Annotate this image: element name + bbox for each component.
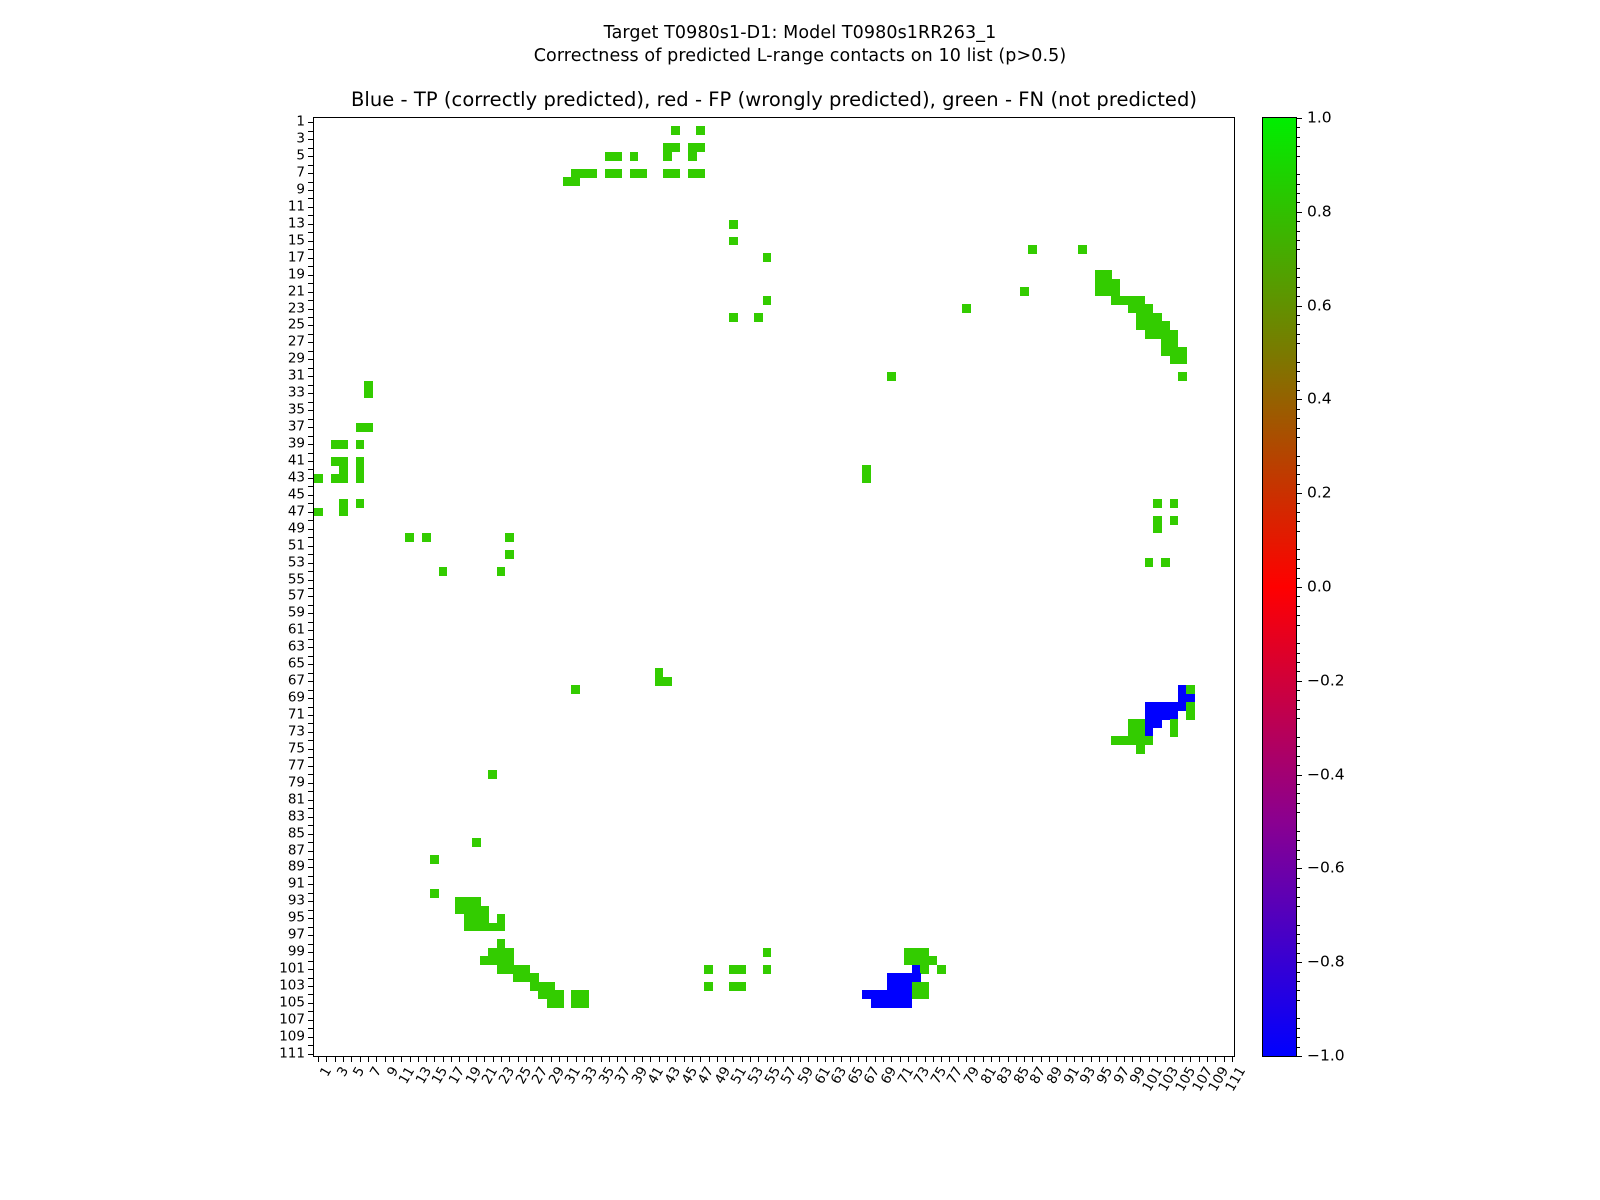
y-tick [308,1037,314,1038]
x-tick [991,1056,992,1062]
x-tick [941,1056,942,1062]
y-tick [308,173,314,174]
colorbar-minor-tick [1296,784,1300,785]
x-tick [459,1056,460,1062]
colorbar-tick-label: 0.8 [1307,204,1332,220]
x-tick-label: 1 [319,1065,335,1079]
y-tick [308,275,314,276]
contact-cell [1170,728,1179,737]
contact-cell [505,550,514,559]
colorbar-minor-tick [1296,137,1300,138]
contact-cell [505,533,514,542]
y-tick [308,952,314,953]
x-tick [709,1056,710,1062]
y-tick-label: 21 [288,285,305,299]
colorbar-minor-tick [1296,953,1300,954]
colorbar-minor-tick [1296,625,1300,626]
y-tick [308,156,314,157]
colorbar-minor-tick [1296,1047,1300,1048]
x-tick [1008,1056,1009,1062]
y-tick [308,630,314,631]
colorbar-minor-tick [1296,362,1300,363]
y-tick [308,817,314,818]
contact-cell [339,440,348,449]
contact-cell [356,440,365,449]
colorbar-minor-tick [1296,934,1300,935]
x-tick [1082,1056,1083,1062]
contact-cell [472,838,481,847]
contact-cell [663,677,672,686]
colorbar-minor-tick [1296,521,1300,522]
colorbar-minor-tick [1296,343,1300,344]
colorbar-minor-tick [1296,878,1300,879]
x-tick [916,1056,917,1062]
x-tick [767,1056,768,1062]
colorbar-minor-tick [1296,240,1300,241]
colorbar-tick-label: 0.0 [1307,579,1332,595]
colorbar-minor-tick [1296,765,1300,766]
x-tick [484,1056,485,1062]
x-tick [518,1056,519,1062]
x-tick [434,1056,435,1062]
y-tick [308,639,314,640]
contact-cell [1153,719,1162,728]
y-tick-label: 91 [288,878,305,892]
colorbar-minor-tick [1296,793,1300,794]
contact-cell [1170,516,1179,525]
colorbar-minor-tick [1296,334,1300,335]
contact-cell [904,999,913,1008]
colorbar-minor-tick [1296,746,1300,747]
y-tick [308,1045,314,1046]
x-tick [659,1056,660,1062]
colorbar-minor-tick [1296,474,1300,475]
contact-cell [1020,287,1029,296]
colorbar-tick [1296,493,1302,494]
y-tick-label: 33 [288,386,305,400]
y-tick-label: 23 [288,302,305,316]
x-tick [1199,1056,1200,1062]
x-tick [974,1056,975,1062]
x-tick [559,1056,560,1062]
y-tick [308,309,314,310]
contact-cell [555,999,564,1008]
colorbar-minor-tick [1296,202,1300,203]
colorbar[interactable]: 1.00.80.60.40.20.0−0.2−0.4−0.6−0.8−1.0 [1262,117,1297,1057]
x-tick [601,1056,602,1062]
colorbar-minor-tick [1296,231,1300,232]
y-tick-label: 93 [288,895,305,909]
colorbar-gradient [1263,118,1296,1056]
y-tick [308,808,314,809]
contact-cell [1145,736,1154,745]
x-tick [501,1056,502,1062]
colorbar-minor-tick [1296,184,1300,185]
y-tick [308,520,314,521]
y-tick [308,766,314,767]
y-tick [308,317,314,318]
y-tick [308,512,314,513]
x-tick [625,1056,626,1062]
contact-cell [754,313,763,322]
x-tick [1074,1056,1075,1062]
y-tick [308,486,314,487]
contact-cell [1153,499,1162,508]
y-tick [308,436,314,437]
y-tick [308,342,314,343]
colorbar-minor-tick [1296,249,1300,250]
colorbar-tick-label: 0.2 [1307,485,1332,501]
colorbar-minor-tick [1296,381,1300,382]
y-tick [308,359,314,360]
x-tick [509,1056,510,1062]
contact-cell [430,855,439,864]
y-tick [308,122,314,123]
contact-cell [1170,499,1179,508]
colorbar-tick-label: −0.6 [1307,861,1345,877]
x-tick [775,1056,776,1062]
y-tick [308,859,314,860]
y-tick [308,232,314,233]
colorbar-minor-tick [1296,221,1300,222]
x-tick [750,1056,751,1062]
x-tick [1107,1056,1108,1062]
contact-cell [1161,558,1170,567]
x-tick [401,1056,402,1062]
contact-cell [920,990,929,999]
y-tick [308,723,314,724]
y-tick [308,800,314,801]
x-tick [949,1056,950,1062]
x-tick [368,1056,369,1062]
x-tick [891,1056,892,1062]
y-tick-label: 79 [288,776,305,790]
x-tick [1099,1056,1100,1062]
x-tick [1140,1056,1141,1062]
y-tick [308,385,314,386]
contact-cell [588,169,597,178]
contact-cell [729,220,738,229]
x-tick [1174,1056,1175,1062]
y-tick [308,707,314,708]
x-tick [783,1056,784,1062]
y-tick [308,215,314,216]
colorbar-minor-tick [1296,512,1300,513]
y-tick-label: 17 [288,251,305,265]
colorbar-minor-tick [1296,418,1300,419]
colorbar-minor-tick [1296,859,1300,860]
contact-cell [663,152,672,161]
x-tick [700,1056,701,1062]
contact-cell [314,474,323,483]
contact-cell [704,982,713,991]
x-tick [684,1056,685,1062]
figure-canvas: Target T0980s1-D1: Model T0980s1RR263_1 … [0,0,1600,1200]
y-tick [308,224,314,225]
contact-cell [339,474,348,483]
y-tick [308,656,314,657]
x-tick [609,1056,610,1062]
x-tick [451,1056,452,1062]
x-tick [958,1056,959,1062]
y-tick-label: 101 [279,962,305,976]
y-tick [308,901,314,902]
y-tick-label: 89 [288,861,305,875]
x-tick [634,1056,635,1062]
colorbar-minor-tick [1296,850,1300,851]
y-tick-label: 109 [279,1030,305,1044]
x-tick [1190,1056,1191,1062]
contact-cell [729,313,738,322]
x-tick [966,1056,967,1062]
colorbar-minor-tick [1296,718,1300,719]
contact-cell [738,965,747,974]
y-tick-label: 19 [288,268,305,282]
colorbar-minor-tick [1296,803,1300,804]
x-tick [476,1056,477,1062]
colorbar-minor-tick [1296,315,1300,316]
y-tick [308,690,314,691]
y-tick-label: 77 [288,759,305,773]
contact-cell [439,567,448,576]
y-tick-label: 3 [296,132,305,146]
y-tick [308,613,314,614]
x-tick [426,1056,427,1062]
x-tick [933,1056,934,1062]
colorbar-tick-label: −0.8 [1307,954,1345,970]
colorbar-tick-label: 1.0 [1307,110,1332,126]
y-tick [308,292,314,293]
y-tick [308,944,314,945]
colorbar-minor-tick [1296,484,1300,485]
colorbar-minor-tick [1296,146,1300,147]
colorbar-minor-tick [1296,456,1300,457]
y-tick [308,529,314,530]
y-tick-label: 57 [288,590,305,604]
x-tick [999,1056,1000,1062]
y-tick-label: 87 [288,844,305,858]
x-tick [1091,1056,1092,1062]
colorbar-minor-tick [1296,709,1300,710]
contact-cell [1178,355,1187,364]
colorbar-tick-label: −0.4 [1307,767,1345,783]
contact-cell [920,965,929,974]
colorbar-tick [1296,118,1302,119]
x-tick [493,1056,494,1062]
x-tick [900,1056,901,1062]
y-tick [308,148,314,149]
colorbar-minor-tick [1296,643,1300,644]
x-tick [1066,1056,1067,1062]
x-tick [534,1056,535,1062]
y-tick [308,402,314,403]
contact-cell [671,143,680,152]
y-tick [308,647,314,648]
y-tick [308,537,314,538]
contact-cell [339,508,348,517]
contact-cell [314,508,323,517]
colorbar-minor-tick [1296,981,1300,982]
x-tick [817,1056,818,1062]
colorbar-tick [1296,1056,1302,1057]
contact-cell [488,770,497,779]
colorbar-minor-tick [1296,174,1300,175]
colorbar-minor-tick [1296,596,1300,597]
y-tick-label: 39 [288,437,305,451]
y-tick [308,918,314,919]
y-tick [308,834,314,835]
x-tick [1232,1056,1233,1062]
x-tick [1124,1056,1125,1062]
x-tick [1016,1056,1017,1062]
x-tick-label: 7 [369,1065,385,1079]
contact-cell [763,965,772,974]
colorbar-minor-tick [1296,812,1300,813]
contact-cell [497,923,506,932]
y-tick [308,893,314,894]
colorbar-tick [1296,962,1302,963]
x-tick [584,1056,585,1062]
y-tick [308,969,314,970]
colorbar-tick [1296,212,1302,213]
x-tick [808,1056,809,1062]
x-tick-label: 3 [335,1065,351,1079]
colorbar-tick-label: −0.2 [1307,673,1345,689]
y-tick-label: 11 [288,200,305,214]
x-tick [542,1056,543,1062]
contact-cell [696,126,705,135]
colorbar-minor-tick [1296,409,1300,410]
contact-cell [571,685,580,694]
y-tick [308,757,314,758]
y-tick-label: 81 [288,793,305,807]
figure-suptitle: Target T0980s1-D1: Model T0980s1RR263_1 … [0,22,1600,68]
x-tick [1041,1056,1042,1062]
y-tick [308,749,314,750]
y-tick-label: 111 [279,1047,305,1061]
y-tick-label: 73 [288,725,305,739]
colorbar-minor-tick [1296,990,1300,991]
y-tick-label: 51 [288,539,305,553]
contact-cell [763,253,772,262]
contact-cell [1078,245,1087,254]
y-tick [308,673,314,674]
colorbar-minor-tick [1296,156,1300,157]
y-tick [308,478,314,479]
y-tick [308,249,314,250]
y-tick [308,994,314,995]
y-tick [308,554,314,555]
y-tick [308,664,314,665]
colorbar-minor-tick [1296,606,1300,607]
x-tick [1207,1056,1208,1062]
y-tick [308,461,314,462]
y-tick [308,978,314,979]
x-tick [551,1056,552,1062]
y-tick-label: 9 [296,183,305,197]
y-tick [308,1020,314,1021]
x-tick [393,1056,394,1062]
x-tick [410,1056,411,1062]
x-tick [733,1056,734,1062]
x-tick [592,1056,593,1062]
contact-cell [571,177,580,186]
y-tick [308,867,314,868]
x-tick [650,1056,651,1062]
colorbar-minor-tick [1296,1000,1300,1001]
y-tick-label: 69 [288,691,305,705]
colorbar-minor-tick [1296,503,1300,504]
y-tick [308,580,314,581]
contact-cell [729,237,738,246]
colorbar-minor-tick [1296,371,1300,372]
contact-cell [738,982,747,991]
contact-cell [356,499,365,508]
y-tick [308,1028,314,1029]
x-tick [326,1056,327,1062]
x-tick [925,1056,926,1062]
colorbar-minor-tick [1296,465,1300,466]
y-tick [308,740,314,741]
x-tick [850,1056,851,1062]
colorbar-minor-tick [1296,531,1300,532]
colorbar-minor-tick [1296,268,1300,269]
y-tick [308,165,314,166]
y-tick [308,198,314,199]
colorbar-tick [1296,681,1302,682]
y-tick [308,596,314,597]
y-tick-label: 103 [279,979,305,993]
x-tick [908,1056,909,1062]
x-tick [825,1056,826,1062]
y-tick [308,266,314,267]
contact-cell [688,152,697,161]
colorbar-minor-tick [1296,578,1300,579]
y-tick-label: 29 [288,353,305,367]
y-tick-label: 49 [288,522,305,536]
y-tick-label: 5 [296,149,305,163]
contact-cell [630,152,639,161]
y-tick-label: 65 [288,657,305,671]
y-tick-label: 13 [288,217,305,231]
contact-cell [422,533,431,542]
contact-cell [1028,245,1037,254]
x-tick [335,1056,336,1062]
colorbar-minor-tick [1296,568,1300,569]
y-tick-label: 71 [288,708,305,722]
y-tick [308,571,314,572]
x-tick [833,1056,834,1062]
x-tick [1215,1056,1216,1062]
y-tick [308,681,314,682]
contact-cell [364,423,373,432]
contact-cell [356,474,365,483]
y-tick [308,182,314,183]
y-tick [308,715,314,716]
y-tick [308,410,314,411]
y-tick [308,783,314,784]
colorbar-minor-tick [1296,943,1300,944]
x-tick [1224,1056,1225,1062]
y-tick-label: 107 [279,1013,305,1027]
colorbar-minor-tick [1296,906,1300,907]
y-tick [308,698,314,699]
contact-map-axes[interactable]: 1133557799111113131515171719192121232325… [313,117,1235,1057]
x-tick [841,1056,842,1062]
y-tick-label: 27 [288,336,305,350]
contact-cell [497,567,506,576]
colorbar-minor-tick [1296,831,1300,832]
